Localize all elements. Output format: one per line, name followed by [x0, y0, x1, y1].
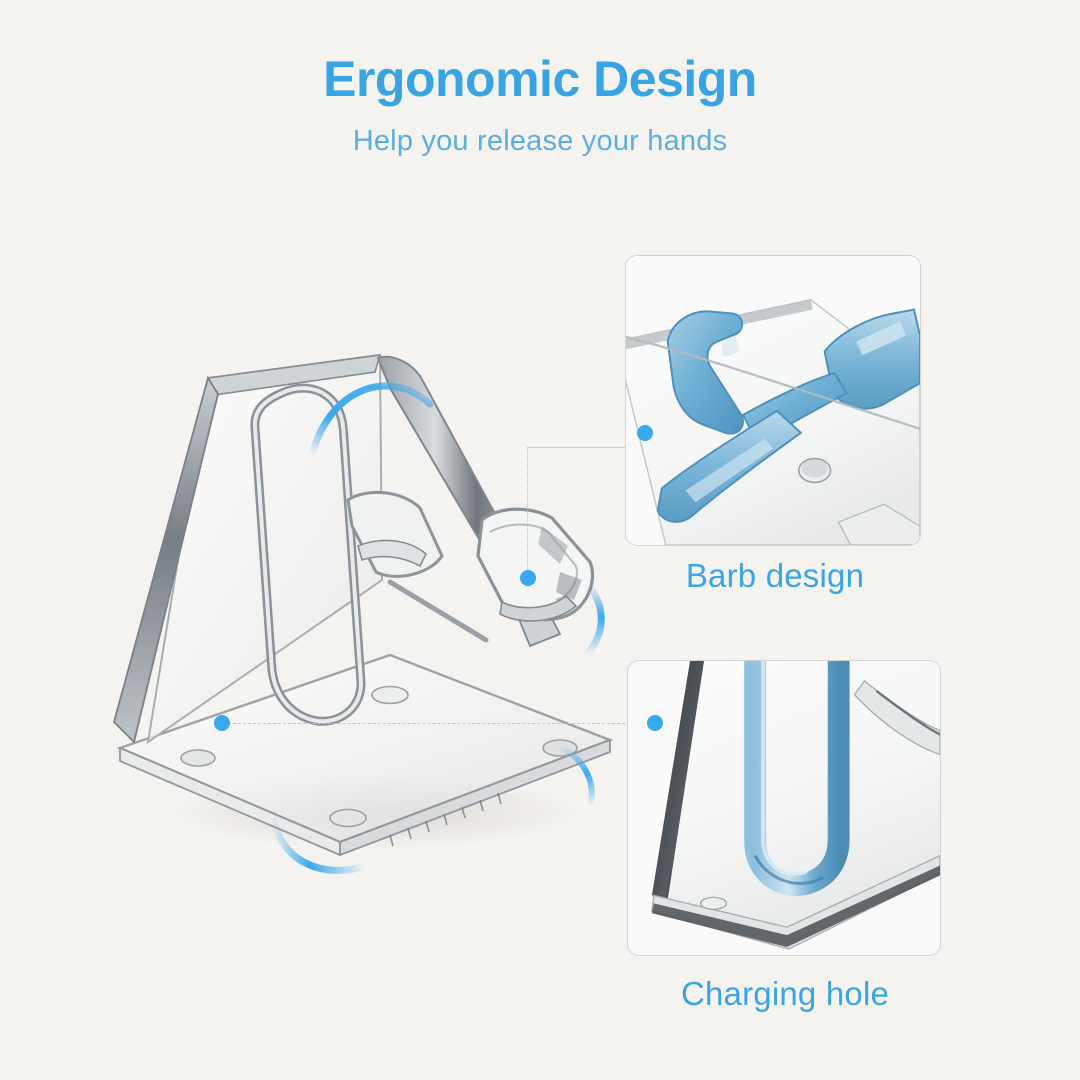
callout-dot-hole-on-product[interactable] [214, 715, 230, 731]
base-hole [330, 810, 366, 827]
page-subtitle: Help you release your hands [0, 126, 1080, 158]
base-hole [543, 740, 577, 756]
product-image-main [90, 350, 650, 890]
callout-panel-charging-hole [627, 660, 941, 956]
callout-label-charging-hole: Charging hole [620, 975, 950, 1013]
callout-panel-barb-design [625, 255, 921, 546]
base-hole [181, 750, 215, 766]
callout-label-barb-design: Barb design [625, 557, 925, 595]
base-hole [372, 687, 408, 704]
cross-brace [390, 582, 486, 640]
callout-dot-hole-in-panel[interactable] [647, 715, 663, 731]
barb-hook [478, 509, 593, 621]
callout-dot-barb-on-product[interactable] [520, 570, 536, 586]
product-feature-graphic: Ergonomic Design Help you release your h… [0, 0, 1080, 1080]
page-title: Ergonomic Design [0, 52, 1080, 107]
callout-dot-barb-in-panel[interactable] [637, 425, 653, 441]
